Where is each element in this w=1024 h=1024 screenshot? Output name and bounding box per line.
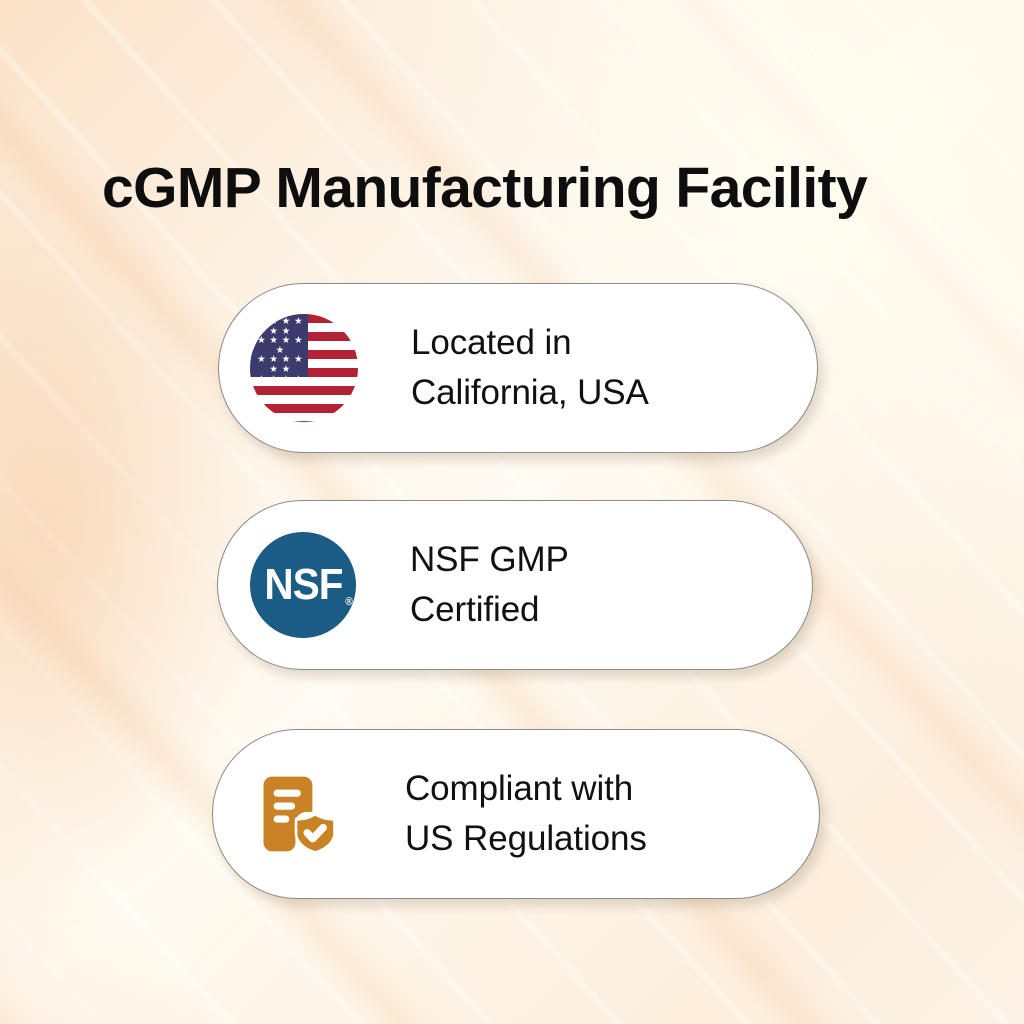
nsf-logo-icon: NSF® bbox=[250, 532, 356, 638]
feature-card-nsf-certified[interactable]: NSF® NSF GMP Certified bbox=[217, 500, 813, 670]
card-label-line-1: NSF GMP bbox=[410, 535, 569, 585]
flag-stars: ★ ★ ★ ★ ★ ★ ★ ★ ★ ★ ★ ★ ★ ★ ★ ★ ★ ★ ★ ★ … bbox=[250, 314, 308, 377]
nsf-logo-letters: NSF bbox=[264, 560, 342, 609]
card-label-line-2: California, USA bbox=[411, 368, 649, 418]
card-label-line-2: Certified bbox=[410, 585, 569, 635]
page-title: cGMP Manufacturing Facility bbox=[102, 156, 942, 222]
us-flag-circle-icon: ★ ★ ★ ★ ★ ★ ★ ★ ★ ★ ★ ★ ★ ★ ★ ★ ★ ★ ★ ★ … bbox=[250, 314, 358, 422]
registered-trademark-icon: ® bbox=[345, 597, 352, 608]
card-label-line-1: Compliant with bbox=[405, 764, 647, 814]
card-label: Compliant with US Regulations bbox=[405, 764, 647, 863]
poster-canvas: cGMP Manufacturing Facility ★ ★ ★ ★ ★ ★ … bbox=[0, 0, 1024, 1024]
card-label: NSF GMP Certified bbox=[410, 535, 569, 634]
card-icon-slot: NSF® bbox=[244, 532, 362, 638]
document-shield-check-icon bbox=[252, 768, 344, 860]
feature-card-location[interactable]: ★ ★ ★ ★ ★ ★ ★ ★ ★ ★ ★ ★ ★ ★ ★ ★ ★ ★ ★ ★ … bbox=[218, 283, 818, 453]
card-icon-slot: ★ ★ ★ ★ ★ ★ ★ ★ ★ ★ ★ ★ ★ ★ ★ ★ ★ ★ ★ ★ … bbox=[245, 314, 363, 422]
card-label-line-1: Located in bbox=[411, 318, 649, 368]
feature-card-us-regulations[interactable]: Compliant with US Regulations bbox=[212, 729, 820, 899]
card-label-line-2: US Regulations bbox=[405, 814, 647, 864]
nsf-logo-text: NSF® bbox=[264, 563, 342, 607]
card-icon-slot bbox=[239, 768, 357, 860]
card-label: Located in California, USA bbox=[411, 318, 649, 417]
